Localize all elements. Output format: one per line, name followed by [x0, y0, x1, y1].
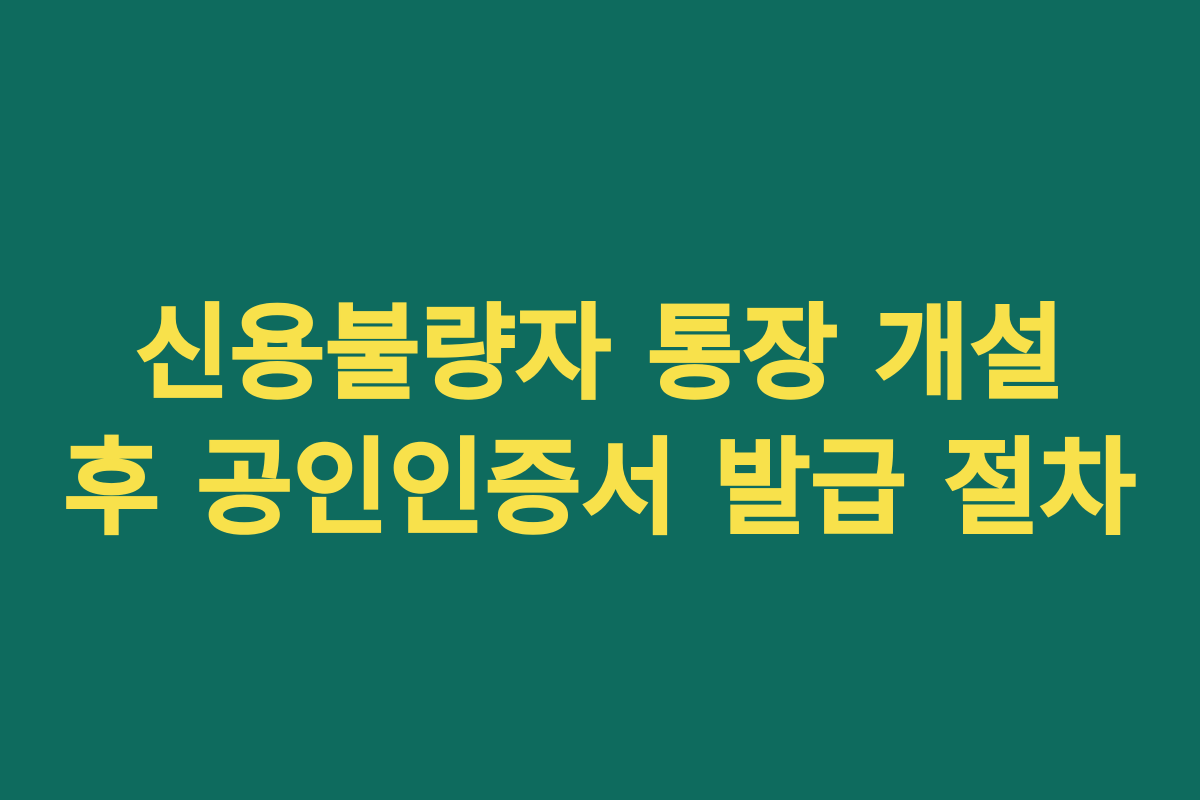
text-banner: 신용불량자 통장 개설 후 공인인증서 발급 절차 [0, 0, 1200, 800]
banner-title: 신용불량자 통장 개설 후 공인인증서 발급 절차 [0, 287, 1200, 555]
banner-title-line-2: 후 공인인증서 발급 절차 [0, 421, 1200, 555]
banner-title-line-1: 신용불량자 통장 개설 [0, 287, 1200, 421]
